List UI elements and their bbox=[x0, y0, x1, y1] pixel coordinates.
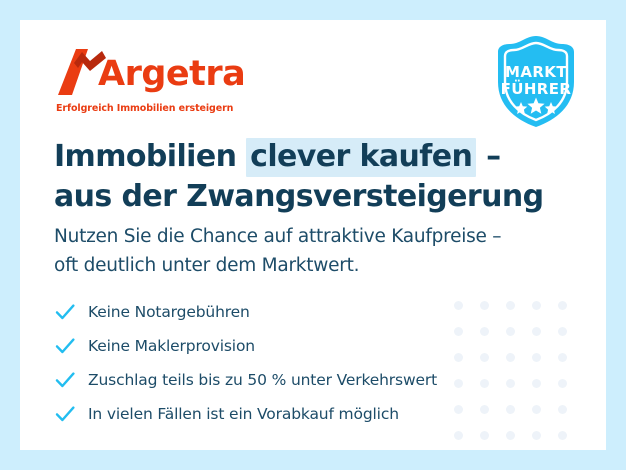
headline-line-1-after: – bbox=[476, 139, 500, 174]
grid-dot bbox=[558, 353, 567, 362]
ad-card: Argetra Erfolgreich Immobilien ersteiger… bbox=[20, 20, 606, 450]
subheading-line-2: oft deutlich unter dem Marktwert. bbox=[54, 255, 359, 276]
ad-banner: Argetra Erfolgreich Immobilien ersteiger… bbox=[0, 0, 626, 470]
grid-dot bbox=[480, 431, 489, 440]
check-icon bbox=[54, 335, 76, 357]
brand-logo[interactable]: Argetra Erfolgreich Immobilien ersteiger… bbox=[54, 41, 234, 125]
list-item: Keine Maklerprovision bbox=[54, 329, 534, 363]
badge-line-2: FÜHRER bbox=[501, 79, 572, 98]
grid-dot bbox=[558, 327, 567, 336]
subheading: Nutzen Sie die Chance auf attraktive Kau… bbox=[54, 223, 554, 280]
check-icon bbox=[54, 403, 76, 425]
grid-dot bbox=[558, 405, 567, 414]
grid-dot bbox=[532, 431, 541, 440]
headline-line-2: aus der Zwangsversteigerung bbox=[54, 179, 544, 214]
grid-dot bbox=[506, 431, 515, 440]
grid-dot bbox=[558, 301, 567, 310]
logo-lockup: Argetra bbox=[54, 41, 234, 103]
benefit-label: Keine Maklerprovision bbox=[88, 337, 255, 355]
check-icon bbox=[54, 301, 76, 323]
headline-highlight: clever kaufen bbox=[246, 138, 476, 177]
grid-dot bbox=[454, 431, 463, 440]
list-item: Zuschlag teils bis zu 50 % unter Verkehr… bbox=[54, 363, 534, 397]
check-icon bbox=[54, 369, 76, 391]
page-title: Immobilien clever kaufen – aus der Zwang… bbox=[54, 137, 554, 217]
market-leader-badge: MARKT FÜHRER bbox=[490, 32, 582, 130]
grid-dot bbox=[558, 431, 567, 440]
grid-dot bbox=[558, 379, 567, 388]
list-item: Keine Notargebühren bbox=[54, 295, 534, 329]
benefit-label: Keine Notargebühren bbox=[88, 303, 250, 321]
headline-line-1-before: Immobilien bbox=[54, 139, 246, 174]
logo-tagline: Erfolgreich Immobilien ersteigern bbox=[56, 103, 233, 114]
subheading-line-1: Nutzen Sie die Chance auf attraktive Kau… bbox=[54, 226, 501, 247]
badge-line-1: MARKT bbox=[505, 63, 567, 81]
benefit-label: In vielen Fällen ist ein Vorabkauf mögli… bbox=[88, 405, 399, 423]
logo-wordmark: Argetra bbox=[98, 57, 245, 92]
benefit-label: Zuschlag teils bis zu 50 % unter Verkehr… bbox=[88, 371, 437, 389]
list-item: In vielen Fällen ist ein Vorabkauf mögli… bbox=[54, 397, 534, 431]
benefits-list: Keine NotargebührenKeine Maklerprovision… bbox=[54, 295, 534, 431]
